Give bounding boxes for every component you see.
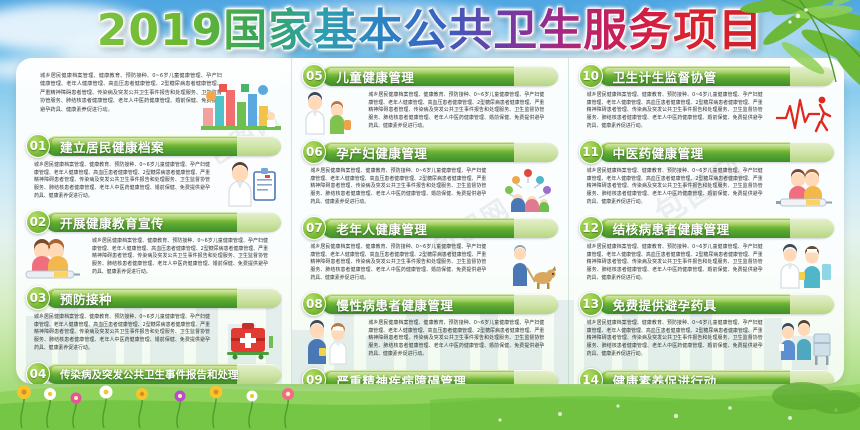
poster-canvas: 2019国家基本公共卫生服务项目 [0, 0, 860, 430]
intro-block: 城乡居民健康档案管理、健康教育、预防接种、0~6岁儿童健康管理、孕产妇健康管理、… [22, 62, 285, 132]
bar-tail [514, 218, 558, 238]
item-body: 城乡居民健康档案管理、健康教育、预防接种、0~6岁儿童健康管理、孕产妇健康管理、… [575, 164, 838, 214]
item-number: 08 [306, 298, 323, 310]
item-header-bar[interactable]: 02 开展健康教育宣传 [26, 210, 285, 234]
service-item[interactable]: 07 老年人健康管理 城乡居民健康档案管理、健康教育、预防接种、0~6岁儿童健康… [298, 216, 561, 290]
garden-decoration [0, 370, 860, 430]
item-number: 07 [306, 222, 323, 234]
item-body: 城乡居民健康档案管理、健康教育、预防接种、0~6岁儿童健康管理、孕产妇健康管理、… [298, 240, 561, 290]
item-body: 城乡居民健康档案管理、健康教育、预防接种、0~6岁儿童健康管理、孕产妇健康管理、… [22, 234, 285, 284]
service-item[interactable]: 05 儿童健康管理 [298, 64, 561, 138]
bar-tail [514, 142, 558, 162]
item-number-badge: 03 [26, 286, 50, 310]
bar-tail [514, 66, 558, 86]
service-item[interactable]: 02 开展健康教育宣传 [22, 210, 285, 284]
item-body-text: 城乡居民健康档案管理、健康教育、预防接种、0~6岁儿童健康管理、孕产妇健康管理、… [310, 244, 486, 283]
item-title: 孕产妇健康管理 [336, 143, 427, 162]
item-title: 开展健康教育宣传 [60, 213, 164, 232]
item-body-text: 城乡居民健康档案管理、健康教育、预防接种、0~6岁儿童健康管理、孕产妇健康管理、… [310, 168, 486, 207]
grass-flowers-illustration [0, 370, 860, 430]
service-item[interactable]: 01 建立居民健康档案 城乡居民健康档案管理、健康教育、预防接种、0~6岁儿童健… [22, 134, 285, 208]
doctor-clipboard-icon [223, 162, 279, 208]
item-title: 结核病患者健康管理 [613, 219, 730, 238]
item-header-bar[interactable]: 03 预防接种 [26, 286, 285, 310]
intro-text: 城乡居民健康档案管理、健康教育、预防接种、0~6岁儿童健康管理、孕产妇健康管理、… [40, 72, 222, 114]
item-title: 免费提供避孕药具 [613, 295, 717, 314]
bar-tail [237, 136, 281, 156]
item-number: 05 [306, 70, 323, 82]
item-header-bar[interactable]: 05 儿童健康管理 [302, 64, 561, 88]
elderly-guide-dog-icon [500, 244, 556, 290]
item-body-text: 城乡居民健康档案管理、健康教育、预防接种、0~6岁儿童健康管理、孕产妇健康管理、… [34, 314, 210, 353]
item-body: 城乡居民健康档案管理、健康教育、预防接种、0~6岁儿童健康管理、孕产妇健康管理、… [298, 164, 561, 214]
health-infographic-icon [201, 82, 281, 134]
item-title: 慢性病患者健康管理 [336, 295, 453, 314]
item-body-text: 城乡居民健康档案管理、健康教育、预防接种、0~6岁儿童健康管理、孕产妇健康管理、… [368, 92, 544, 131]
left-column: 城乡居民健康档案管理、健康教育、预防接种、0~6岁儿童健康管理、孕产妇健康管理、… [16, 58, 291, 384]
item-header-bar[interactable]: 07 老年人健康管理 [302, 216, 561, 240]
service-item[interactable]: 06 孕产妇健康管理 城乡居民健康档案管理、健康教育、预防接种、0~6岁儿童健康… [298, 140, 561, 214]
service-item[interactable]: 11 中医药健康管理 城乡居民健康档案管理、健康教育、预防接种、0~6岁儿童健康… [575, 140, 838, 214]
content-panel: 包图网 包图网 包图网 城乡居民健康档案管理、健康教育、预防接种、0~6岁儿童健… [16, 58, 844, 384]
item-number: 12 [582, 222, 599, 234]
middle-column: 05 儿童健康管理 [291, 58, 567, 384]
doctor-nurse-icon [776, 244, 832, 290]
item-title: 儿童健康管理 [336, 67, 414, 86]
item-number-badge: 12 [579, 216, 603, 240]
item-title: 老年人健康管理 [336, 219, 427, 238]
bamboo-leaves-icon [640, 0, 860, 106]
item-body-text: 城乡居民健康档案管理、健康教育、预防接种、0~6岁儿童健康管理、孕产妇健康管理、… [34, 162, 210, 201]
item-number: 10 [582, 70, 599, 82]
item-body-text: 城乡居民健康档案管理、健康教育、预防接种、0~6岁儿童健康管理、孕产妇健康管理、… [368, 320, 544, 359]
bar-tail [514, 294, 558, 314]
item-number-badge: 01 [26, 134, 50, 158]
bar-tail [790, 294, 834, 314]
family-group-icon [500, 168, 556, 214]
item-body-text: 城乡居民健康档案管理、健康教育、预防接种、0~6岁儿童健康管理、孕产妇健康管理、… [587, 244, 763, 283]
item-body: 城乡居民健康档案管理、健康教育、预防接种、0~6岁儿童健康管理、孕产妇健康管理、… [575, 240, 838, 290]
item-body-text: 城乡居民健康档案管理、健康教育、预防接种、0~6岁儿童健康管理、孕产妇健康管理、… [587, 168, 763, 207]
item-body: 城乡居民健康档案管理、健康教育、预防接种、0~6岁儿童健康管理、孕产妇健康管理、… [298, 316, 561, 366]
bar-tail [790, 142, 834, 162]
item-body: 城乡居民健康档案管理、健康教育、预防接种、0~6岁儿童健康管理、孕产妇健康管理、… [22, 310, 285, 360]
children-syringe-icon [776, 168, 832, 214]
item-header-bar[interactable]: 11 中医药健康管理 [579, 140, 838, 164]
item-header-bar[interactable]: 08 慢性病患者健康管理 [302, 292, 561, 316]
item-number-badge: 06 [302, 140, 326, 164]
item-number: 06 [306, 146, 323, 158]
bar-tail [790, 218, 834, 238]
clinic-exam-icon [776, 320, 832, 366]
item-body: 城乡居民健康档案管理、健康教育、预防接种、0~6岁儿童健康管理、孕产妇健康管理、… [298, 88, 561, 138]
columns-container: 城乡居民健康档案管理、健康教育、预防接种、0~6岁儿童健康管理、孕产妇健康管理、… [16, 58, 844, 384]
right-column: 10 卫生计生监督协管 城乡居民健康档案管理、健康教育、预防接种、0~6岁儿童健… [568, 58, 844, 384]
item-header-bar[interactable]: 01 建立居民健康档案 [26, 134, 285, 158]
service-item[interactable]: 12 结核病患者健康管理 城乡居民健康档案管理、健康教育、预防接种、0~6岁儿童… [575, 216, 838, 290]
service-item[interactable]: 08 慢性病患者健康管理 [298, 292, 561, 366]
item-title: 建立居民健康档案 [60, 137, 164, 156]
item-number-badge: 11 [579, 140, 603, 164]
item-number: 02 [30, 216, 47, 228]
item-number-badge: 05 [302, 64, 326, 88]
item-body: 城乡居民健康档案管理、健康教育、预防接种、0~6岁儿童健康管理、孕产妇健康管理、… [22, 158, 285, 208]
item-header-bar[interactable]: 13 免费提供避孕药具 [579, 292, 838, 316]
service-item[interactable]: 03 预防接种 城乡居民健康档案管理、健康教育、预防接种、0~6岁儿童健康管理、… [22, 286, 285, 360]
item-body: 城乡居民健康档案管理、健康教育、预防接种、0~6岁儿童健康管理、孕产妇健康管理、… [575, 316, 838, 366]
item-title: 中医药健康管理 [613, 143, 704, 162]
item-number-badge: 02 [26, 210, 50, 234]
doctor-child-icon [300, 92, 356, 138]
item-header-bar[interactable]: 12 结核病患者健康管理 [579, 216, 838, 240]
bar-tail [237, 212, 281, 232]
item-number: 03 [30, 292, 47, 304]
item-number: 11 [582, 146, 599, 158]
item-body-text: 城乡居民健康档案管理、健康教育、预防接种、0~6岁儿童健康管理、孕产妇健康管理、… [92, 238, 268, 277]
item-number-badge: 08 [302, 292, 326, 316]
item-number-badge: 07 [302, 216, 326, 240]
item-number-badge: 13 [579, 292, 603, 316]
item-number: 13 [582, 298, 599, 310]
item-title: 预防接种 [60, 289, 112, 308]
couple-patient-icon [300, 320, 356, 366]
first-aid-kit-icon [223, 314, 279, 360]
item-header-bar[interactable]: 06 孕产妇健康管理 [302, 140, 561, 164]
item-number-badge: 10 [579, 64, 603, 88]
item-body-text: 城乡居民健康档案管理、健康教育、预防接种、0~6岁儿童健康管理、孕产妇健康管理、… [587, 320, 763, 359]
item-number: 01 [30, 140, 47, 152]
children-vaccine-icon [24, 238, 80, 284]
service-item[interactable]: 13 免费提供避孕药具 城乡居民健康档案管理、健康教育、预防接种、0~6岁儿童健… [575, 292, 838, 366]
bar-tail [237, 288, 281, 308]
